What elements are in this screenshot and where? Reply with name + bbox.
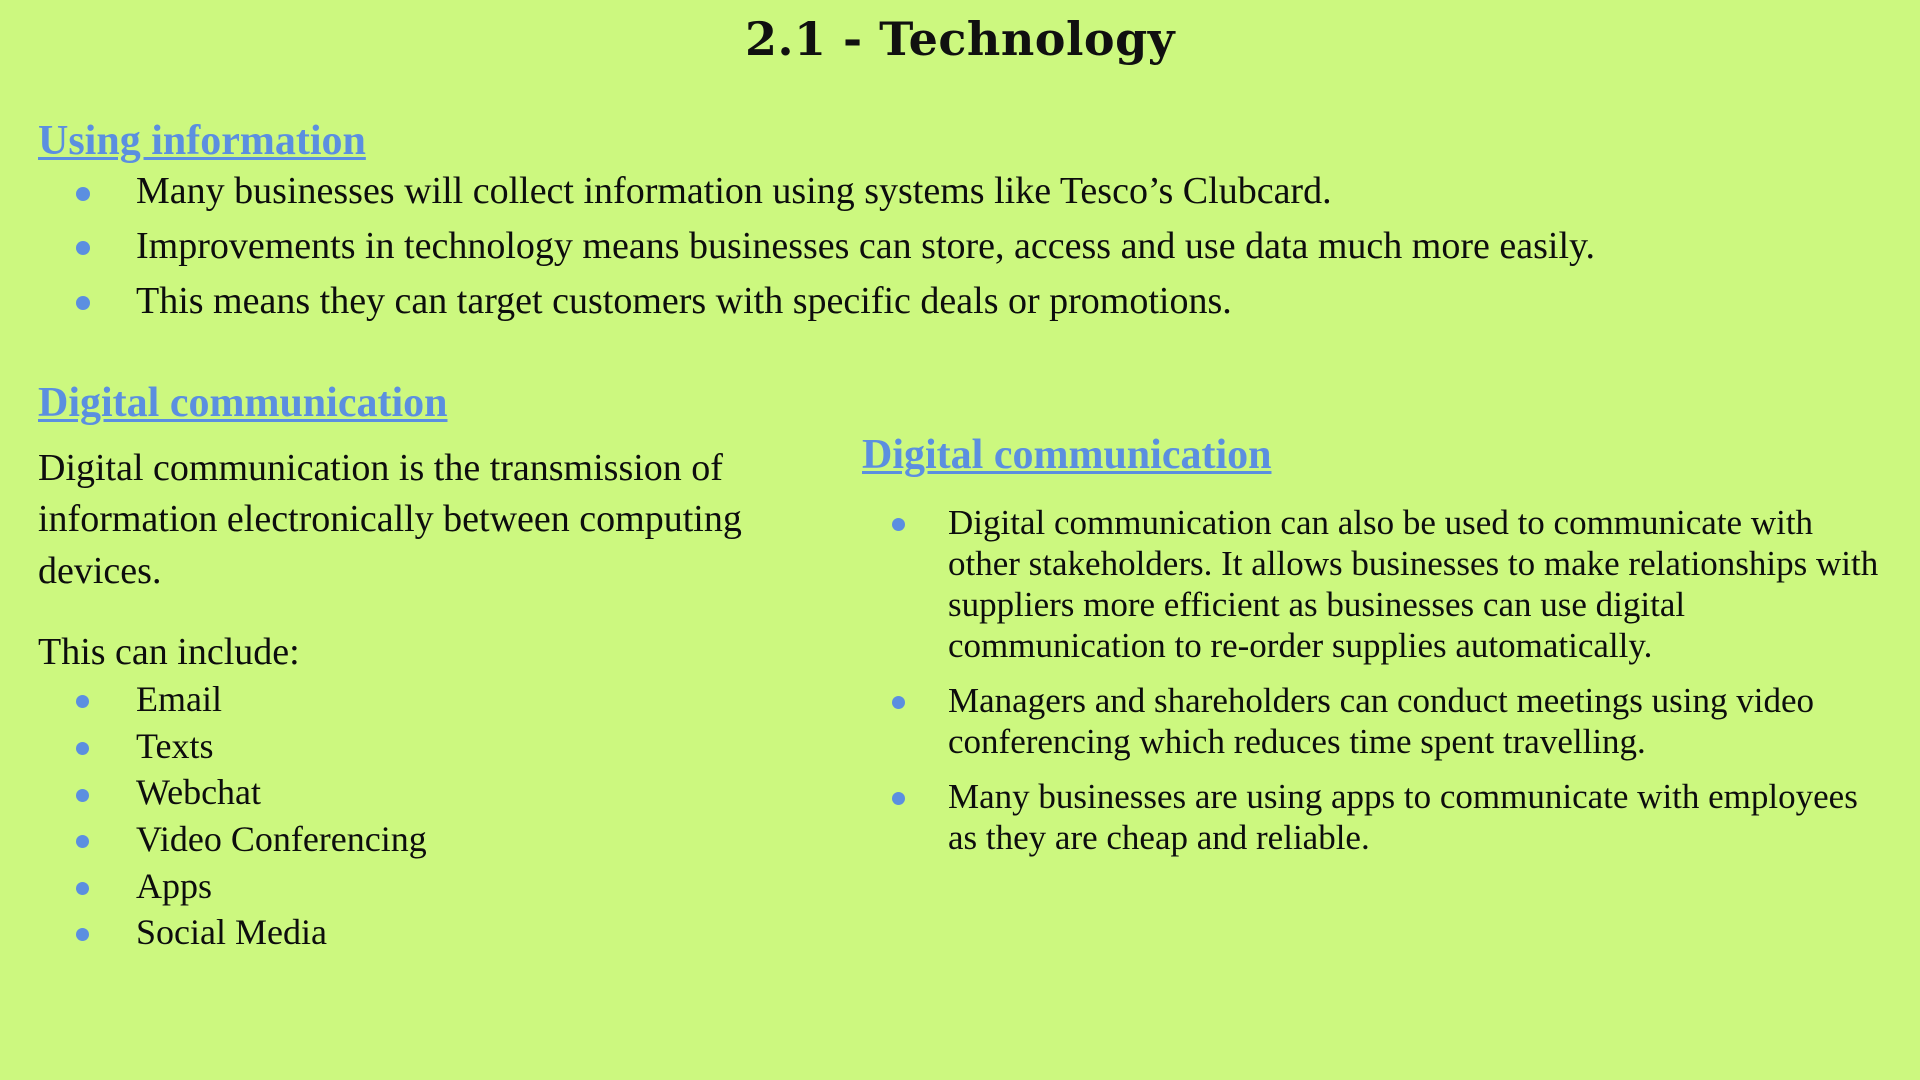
section-using-information: Using information Many businesses will c… [38,118,1888,334]
two-column-body: Digital communication Digital communicat… [0,360,1920,1060]
digital-communication-definition: Digital communication is the transmissio… [38,443,798,597]
digital-communication-lead-in: This can include: [38,627,798,678]
section-heading-digital-communication-right: Digital communication [862,432,1892,479]
page-title: 2.1 - Technology [0,14,1920,65]
section-heading-digital-communication-left: Digital communication [38,380,838,427]
list-item: Apps [38,867,838,907]
list-item: Email [38,680,838,720]
section-digital-communication-right: Digital communication Digital communicat… [862,432,1892,873]
section-digital-communication-left: Digital communication Digital communicat… [38,380,838,960]
list-item: Many businesses will collect information… [38,169,1888,214]
list-item: Texts [38,727,838,767]
list-item: Managers and shareholders can conduct me… [862,681,1892,763]
section-heading-using-information: Using information [38,118,1888,165]
using-information-bullet-list: Many businesses will collect information… [38,169,1888,323]
list-item: Video Conferencing [38,820,838,860]
list-item: Digital communication can also be used t… [862,503,1892,667]
slide-canvas: 2.1 - Technology Using information Many … [0,0,1920,1080]
list-item: Many businesses are using apps to commun… [862,777,1892,859]
digital-communication-types-list: Email Texts Webchat Video Conferencing A… [38,680,838,953]
list-item: This means they can target customers wit… [38,279,1888,324]
list-item: Improvements in technology means busines… [38,224,1888,269]
digital-communication-uses-list: Digital communication can also be used t… [862,503,1892,859]
list-item: Social Media [38,913,838,953]
list-item: Webchat [38,773,838,813]
